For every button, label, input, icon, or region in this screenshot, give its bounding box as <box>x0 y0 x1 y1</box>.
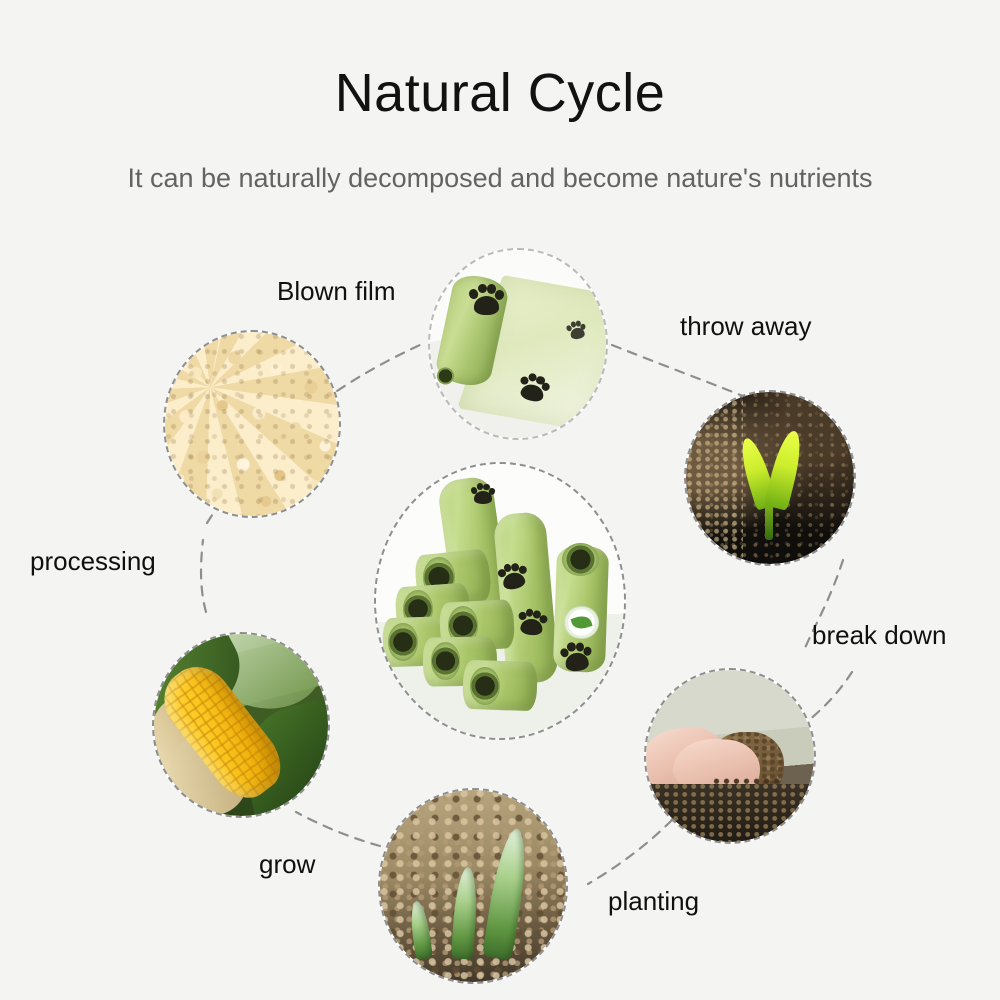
image-starch-granules <box>165 332 339 516</box>
paw-print-icon <box>558 640 593 673</box>
image-poop-bag-rolls <box>376 464 624 738</box>
soil-texture-light-patch <box>686 392 743 564</box>
node-planting[interactable] <box>644 668 816 844</box>
label-break-down: break down <box>812 622 946 648</box>
paw-toe <box>478 284 487 294</box>
paw-pad <box>474 491 492 504</box>
eco-badge-icon <box>564 606 598 638</box>
node-blown-film[interactable] <box>428 248 608 440</box>
granule-texture-secondary <box>165 332 339 516</box>
node-center-product[interactable] <box>374 462 626 740</box>
label-throw-away: throw away <box>680 313 812 339</box>
image-seedlings-in-soil <box>380 790 566 982</box>
image-hands-with-soil <box>646 670 814 842</box>
seedling-large <box>482 827 532 961</box>
bag-roll-mid-tall <box>493 511 560 685</box>
seedling-medium <box>451 866 480 959</box>
infographic-canvas: Natural Cycle It can be naturally decomp… <box>0 0 1000 1000</box>
connector-corn-to-processing <box>201 540 206 612</box>
paw-print-icon <box>516 608 548 638</box>
image-corn-cob <box>154 634 328 816</box>
label-planting: planting <box>608 888 699 914</box>
leaf-icon <box>571 614 593 632</box>
paw-print-icon <box>470 483 495 505</box>
image-sprout-dark-soil <box>686 392 854 564</box>
paw-pad <box>474 296 499 315</box>
node-grow[interactable] <box>378 788 568 984</box>
page-subtitle: It can be naturally decomposed and becom… <box>0 162 1000 194</box>
label-grow: grow <box>259 851 315 877</box>
seedling-small <box>408 900 433 959</box>
roll-end-f <box>470 667 500 705</box>
node-processing[interactable] <box>163 330 341 518</box>
image-blown-film-roll <box>430 250 606 438</box>
paw-print-icon <box>469 284 504 316</box>
paw-print-icon <box>566 320 588 342</box>
paw-pad <box>570 327 586 340</box>
label-processing: processing <box>30 548 156 574</box>
paw-print-icon <box>495 560 530 593</box>
node-throw-away[interactable] <box>684 390 856 566</box>
connector-grow-to-corn <box>296 812 380 846</box>
soil-ground <box>646 784 814 842</box>
page-title: Natural Cycle <box>0 64 1000 123</box>
paw-toe <box>566 642 575 652</box>
node-corn[interactable] <box>152 632 330 818</box>
label-blown-film: Blown film <box>277 278 395 304</box>
